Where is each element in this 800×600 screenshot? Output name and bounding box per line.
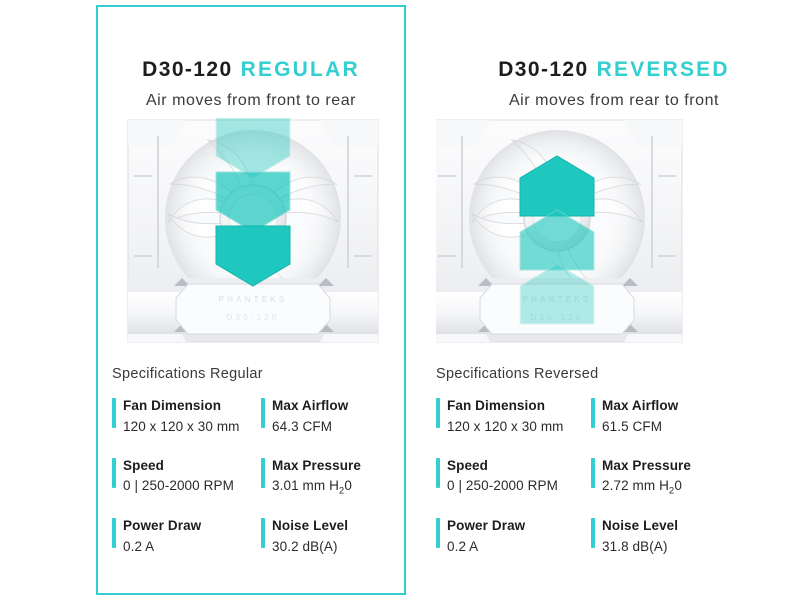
title-model: D30-120 [498,58,588,81]
spec-marker-bar [261,398,265,428]
panel-subtitle-regular: Air moves from front to rear [96,92,406,110]
svg-text:PHANTEKS: PHANTEKS [219,295,288,304]
spec-max-airflow: Max Airflow 64.3 CFM [261,396,400,438]
spec-speed: Speed 0 | 250-2000 RPM [112,456,251,499]
title-variant-text: REGULAR [241,58,360,81]
title-variant-text: REVERSED [597,58,730,81]
chevron-down-icon [216,118,290,286]
spec-marker-bar [436,518,440,548]
spec-value: 2.72 mm H20 [602,478,682,493]
title-variant [233,58,241,81]
spec-marker-bar [591,458,595,488]
spec-marker-bar [436,458,440,488]
specifications-heading: Specifications Reversed [436,366,736,382]
product-panel-regular: D30-120 REGULAR Air moves from front to … [96,0,406,600]
spec-value: 30.2 dB(A) [272,539,338,554]
fan-illustration-regular: PHANTEKS D30-120 [112,118,404,346]
spec-label: Fan Dimension [123,398,221,413]
spec-value: 61.5 CFM [602,419,662,434]
fan-illustration-reversed: PHANTEKS D30-120 [436,118,708,346]
page-title-regular: D30-120 REGULAR [96,58,406,82]
spec-marker-bar [112,458,116,488]
spec-value: 120 x 120 x 30 mm [447,419,564,434]
spec-value: 31.8 dB(A) [602,539,668,554]
specifications-heading: Specifications Regular [112,366,400,382]
spec-marker-bar [261,518,265,548]
spec-noise-level: Noise Level 31.8 dB(A) [591,516,736,558]
spec-fan-dimension: Fan Dimension 120 x 120 x 30 mm [112,396,251,438]
spec-label: Max Pressure [602,458,691,473]
spec-value: 0.2 A [447,539,478,554]
specifications-grid: Fan Dimension 120 x 120 x 30 mm Max Airf… [436,396,736,558]
spec-label: Speed [123,458,164,473]
spec-label: Fan Dimension [447,398,545,413]
spec-marker-bar [112,518,116,548]
chevron-up-icon [520,156,594,324]
panel-heading-reversed: D30-120 REVERSED Air moves from rear to … [428,58,800,110]
spec-marker-bar [591,518,595,548]
product-panel-reversed: D30-120 REVERSED Air moves from rear to … [428,0,800,600]
spec-value-tail: 0 [674,478,682,493]
spec-value: 0 | 250-2000 RPM [123,478,234,493]
spec-label: Power Draw [447,518,525,533]
spec-fan-dimension: Fan Dimension 120 x 120 x 30 mm [436,396,581,438]
fan-image-regular: PHANTEKS D30-120 [112,118,404,346]
fan-image-reversed: PHANTEKS D30-120 [436,118,708,346]
svg-text:D30-120: D30-120 [226,313,279,322]
spec-noise-level: Noise Level 30.2 dB(A) [261,516,400,558]
panel-heading-regular: D30-120 REGULAR Air moves from front to … [96,58,406,110]
spec-marker-bar [261,458,265,488]
comparison-page: D30-120 REGULAR Air moves from front to … [0,0,800,600]
spec-label: Noise Level [602,518,678,533]
spec-max-pressure: Max Pressure 2.72 mm H20 [591,456,736,499]
spec-label: Max Airflow [272,398,348,413]
spec-max-pressure: Max Pressure 3.01 mm H20 [261,456,400,499]
spec-value: 64.3 CFM [272,419,332,434]
spec-power-draw: Power Draw 0.2 A [112,516,251,558]
spec-value-tail: 0 [344,478,352,493]
spec-value: 3.01 mm H20 [272,478,352,493]
spec-value-main: 3.01 mm H [272,478,339,493]
title-model: D30-120 [142,58,232,81]
specifications-reversed: Specifications Reversed Fan Dimension 12… [436,366,736,558]
spec-max-airflow: Max Airflow 61.5 CFM [591,396,736,438]
specifications-regular: Specifications Regular Fan Dimension 120… [112,366,400,558]
spec-value: 0.2 A [123,539,154,554]
spec-marker-bar [436,398,440,428]
spec-marker-bar [591,398,595,428]
spec-marker-bar [112,398,116,428]
spec-label: Max Airflow [602,398,678,413]
spec-label: Noise Level [272,518,348,533]
spec-value-main: 2.72 mm H [602,478,669,493]
spec-label: Max Pressure [272,458,361,473]
spec-label: Power Draw [123,518,201,533]
spec-value: 0 | 250-2000 RPM [447,478,558,493]
panel-subtitle-reversed: Air moves from rear to front [428,92,800,110]
spec-label: Speed [447,458,488,473]
spec-power-draw: Power Draw 0.2 A [436,516,581,558]
page-title-reversed: D30-120 REVERSED [428,58,800,82]
spec-value: 120 x 120 x 30 mm [123,419,240,434]
specifications-grid: Fan Dimension 120 x 120 x 30 mm Max Airf… [112,396,400,558]
spec-speed: Speed 0 | 250-2000 RPM [436,456,581,499]
